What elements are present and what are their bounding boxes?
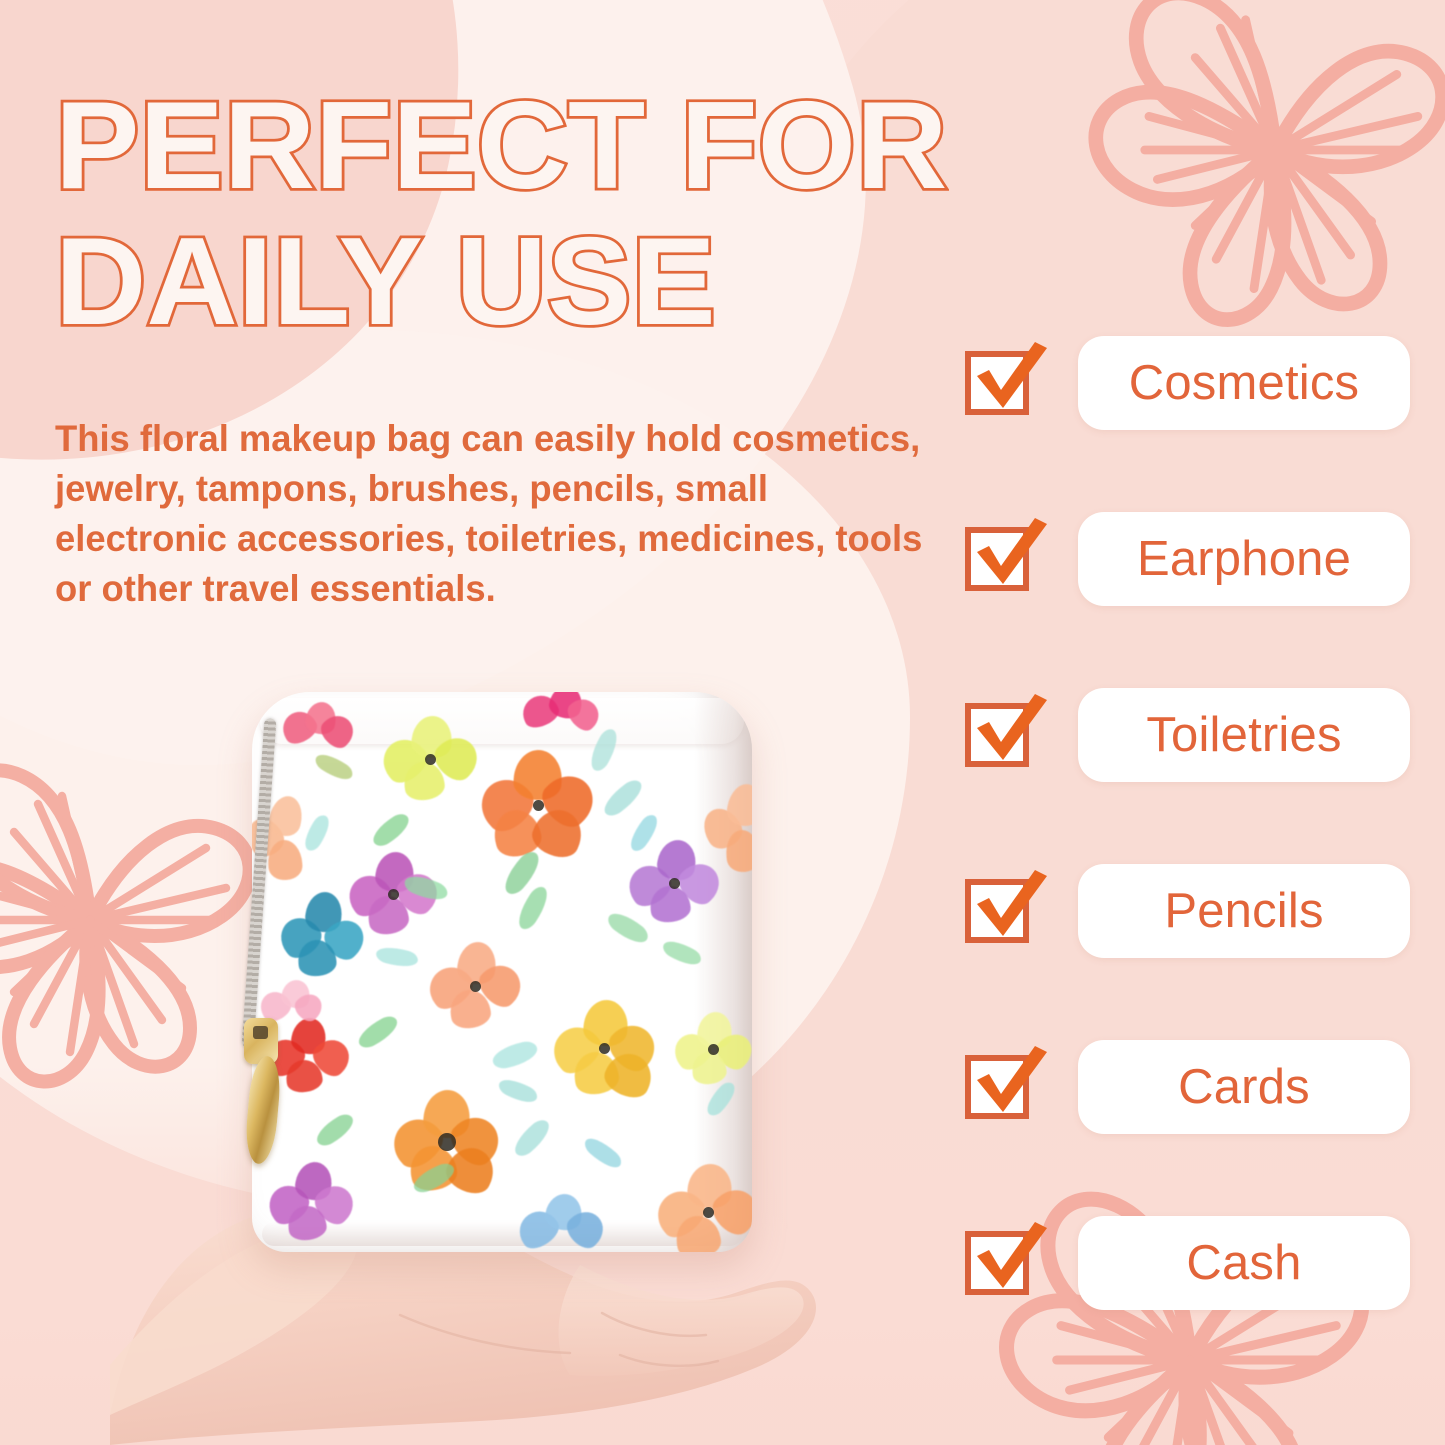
checklist-item[interactable]: Toiletries [965,688,1410,864]
bag-zipper[interactable] [246,718,272,1048]
checklist-item[interactable]: Cards [965,1040,1410,1216]
checklist-item[interactable]: Earphone [965,512,1410,688]
bag-print-leaf [368,810,414,849]
bag-print-flower [268,1162,354,1242]
checkbox-checked-icon[interactable] [965,692,1049,770]
checkbox-checked-icon[interactable] [965,1044,1049,1122]
page-title: PERFECT FOR DAILY USE [55,78,1004,350]
bag-print-leaf [354,1013,402,1051]
bag-print-flower [382,714,478,804]
bag-print-leaf [581,1132,624,1173]
checkbox-checked-icon[interactable] [965,868,1049,946]
checklist-item-label: Earphone [1137,535,1351,584]
bag-print-flower [518,1192,604,1252]
bag-print-leaf [496,1074,540,1109]
bag-print-flower [674,1012,752,1086]
product-photo [150,650,910,1445]
bag-print-flower [278,700,356,762]
bag-print-flower [656,1164,752,1252]
checklist-item[interactable]: Cash [965,1216,1410,1392]
bag-print-leaf [599,776,648,819]
checklist-pill[interactable]: Pencils [1078,864,1410,958]
bag-print-flower [480,750,596,860]
checklist-pill[interactable]: Cards [1078,1040,1410,1134]
checklist-pill[interactable]: Cosmetics [1078,336,1410,430]
bag-print-leaf [312,1111,358,1149]
bag-print-flower [628,840,720,926]
zipper-slider[interactable] [244,1018,278,1064]
checklist-item-label: Toiletries [1146,711,1341,760]
checklist-pill[interactable]: Toiletries [1078,688,1410,782]
bag-print-leaf [490,1039,540,1070]
checklist-item[interactable]: Cosmetics [965,336,1410,512]
checklist-item-label: Cards [1178,1063,1310,1112]
feature-checklist: Cosmetics Earphone Toiletr [965,336,1410,1392]
checklist-item[interactable]: Pencils [965,864,1410,1040]
checklist-item-label: Cash [1186,1239,1301,1288]
bag-print-leaf [509,1116,556,1160]
bag-print-flower [552,1000,656,1096]
checkbox-checked-icon[interactable] [965,516,1049,594]
checklist-item-label: Pencils [1164,887,1323,936]
checklist-pill[interactable]: Cash [1078,1216,1410,1310]
checkbox-checked-icon[interactable] [965,340,1049,418]
product-description: This floral makeup bag can easily hold c… [55,413,933,613]
bag-print-flower [428,942,522,1030]
bag-body [252,692,752,1252]
checklist-item-label: Cosmetics [1129,359,1360,408]
bag-print-leaf [374,943,419,972]
checklist-pill[interactable]: Earphone [1078,512,1410,606]
infographic-canvas: PERFECT FOR DAILY USE This floral makeup… [0,0,1445,1445]
checkbox-checked-icon[interactable] [965,1220,1049,1298]
zipper-teeth [242,718,277,1048]
bag-print-flower [280,892,364,978]
makeup-bag [230,664,790,1264]
